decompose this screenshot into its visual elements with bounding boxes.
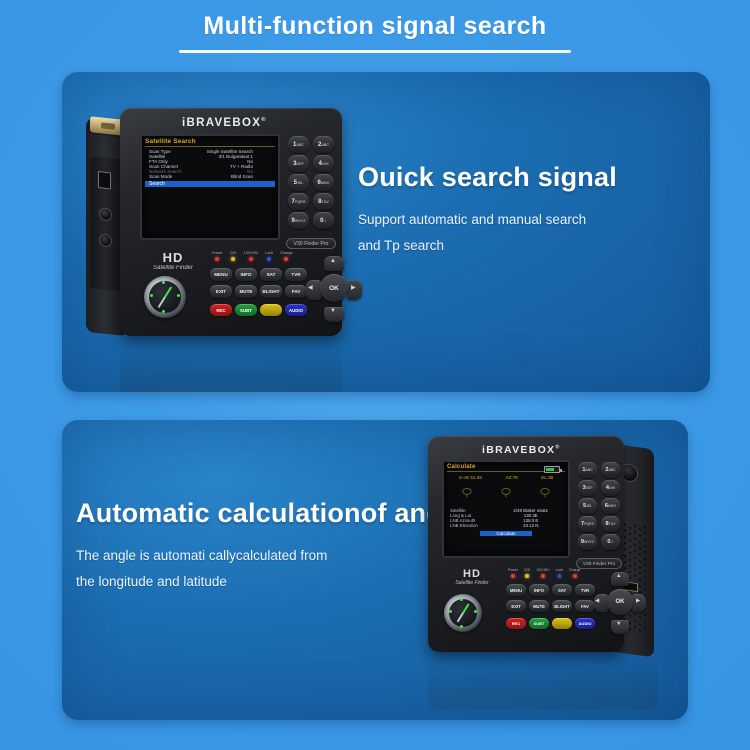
brand-trademark: ® bbox=[261, 117, 267, 123]
f-connector[interactable] bbox=[90, 116, 124, 136]
key-menu[interactable]: MENU bbox=[210, 268, 232, 281]
device-angled-view: iBRAVEBOX® Calculate S->E 51.35AZ:78EL:3… bbox=[410, 428, 688, 678]
key-mute[interactable]: MUTE bbox=[529, 600, 549, 612]
key-8[interactable]: 8TUV bbox=[313, 193, 334, 210]
key-blight[interactable]: BLIGHT bbox=[552, 600, 572, 612]
key-5[interactable]: 5JKL bbox=[578, 498, 597, 514]
hd-label: HD Satellite Finder bbox=[444, 568, 500, 586]
title-underline bbox=[179, 50, 571, 53]
key-9[interactable]: 9WXYZ bbox=[288, 212, 309, 229]
lcd-calc-body: SatelliteLong & LatLNB AzimuthLNB Elevat… bbox=[447, 508, 565, 528]
hd-text: HD bbox=[444, 568, 500, 580]
key-6[interactable]: 6MNO bbox=[313, 174, 334, 191]
panel-1-sub-line-2: and Tp search bbox=[358, 233, 617, 259]
dpad-navigation[interactable]: OK ▲ ▼ ◀ ▶ bbox=[306, 256, 362, 322]
key-1[interactable]: 1ABC bbox=[578, 462, 597, 478]
key-sat[interactable]: SAT bbox=[552, 584, 572, 596]
satellite-finder-text: Satellite Finder bbox=[444, 580, 500, 586]
panel-2-sub-line-2: the longitude and latitude bbox=[76, 569, 466, 595]
lcd-calc-labels: SatelliteLong & LatLNB AzimuthLNB Elevat… bbox=[447, 508, 497, 528]
lcd-dish-icons bbox=[447, 486, 565, 498]
brand-logo: iBRAVEBOX® bbox=[482, 444, 561, 456]
feature-panel-search: iBRAVEBOX® Satellite Search Scan TypeSin… bbox=[62, 72, 710, 392]
key-6[interactable]: 6MNO bbox=[601, 498, 620, 514]
lcd-menu-rows: Scan TypeSingle Satellite SearchSatellit… bbox=[145, 149, 275, 179]
led-indicator-row: Power22K13V/18VLockCharge bbox=[212, 251, 293, 261]
led-dot bbox=[511, 574, 515, 578]
led-label: 22K bbox=[524, 568, 530, 572]
key-9[interactable]: 9WXYZ bbox=[578, 534, 597, 550]
device-body: iBRAVEBOX® Calculate S->E 51.35AZ:78EL:3… bbox=[428, 436, 624, 652]
key-7[interactable]: 7PQRS bbox=[578, 516, 597, 532]
color-key-row[interactable]: RECSUBTAUDIO bbox=[210, 304, 308, 316]
device-front-view: iBRAVEBOX® Satellite Search Scan TypeSin… bbox=[86, 94, 346, 354]
page-header: Multi-function signal search bbox=[0, 12, 750, 53]
lcd-calc-values: 2/49 Blaker sSat1130.3E138.0 E23.12 N bbox=[497, 508, 565, 528]
satellite-dish-icon bbox=[461, 486, 473, 498]
led-label: 13V/18V bbox=[536, 568, 549, 572]
led-label: Lock bbox=[556, 568, 563, 572]
led-dot bbox=[558, 574, 562, 578]
led-dot bbox=[249, 257, 253, 261]
panel-1-title: Ouick search signal bbox=[358, 162, 617, 193]
color-key-subt[interactable]: SUBT bbox=[235, 304, 257, 316]
color-key-subt[interactable]: SUBT bbox=[529, 618, 549, 629]
lcd-row-value: Blind Scan bbox=[231, 174, 275, 179]
lcd-column-headers: S->E 51.35AZ:78EL:38 bbox=[447, 475, 565, 480]
led-22k: 22K bbox=[230, 251, 237, 261]
key-menu[interactable]: MENU bbox=[506, 584, 526, 596]
led-indicator-row: Power22K13V/18VLockCharge bbox=[508, 568, 580, 578]
brand-logo: iBRAVEBOX® bbox=[182, 117, 267, 129]
function-key-grid[interactable]: MENUINFOSATTVREXITMUTEBLIGHTFAV bbox=[506, 584, 596, 614]
satellite-finder-text: Satellite Finder bbox=[142, 265, 204, 271]
led-power: Power bbox=[508, 568, 518, 578]
color-key-row[interactable]: RECSUBTAUDIO bbox=[506, 618, 596, 629]
key-5[interactable]: 5JKL bbox=[288, 174, 309, 191]
led-label: Power bbox=[508, 568, 518, 572]
color-key-audio[interactable]: AUDIO bbox=[575, 618, 595, 629]
color-key-audio[interactable]: AUDIO bbox=[285, 304, 307, 316]
lcd-screen-search: Satellite Search Scan TypeSingle Satelli… bbox=[140, 134, 280, 240]
led-label: Lock bbox=[265, 251, 273, 255]
model-badge: V30 Finder Pro bbox=[576, 558, 622, 569]
device-body: iBRAVEBOX® Satellite Search Scan TypeSin… bbox=[120, 108, 342, 336]
compass bbox=[444, 594, 482, 632]
panel-1-sub-line-1: Support automatic and manual search bbox=[358, 207, 617, 233]
dpad-down-icon: ▼ bbox=[616, 621, 621, 627]
led-dot bbox=[573, 574, 577, 578]
numeric-keypad[interactable]: 1ABC2ABC3DEF4GHI5JKL6MNO7PQRS8TUV9WXYZ0-… bbox=[288, 136, 334, 232]
color-key-yellow[interactable] bbox=[260, 304, 282, 316]
model-badge: V30 Finder Pro bbox=[286, 238, 336, 249]
key-1[interactable]: 1ABC bbox=[288, 136, 309, 153]
panel-2-subtext: The angle is automati callycalculated fr… bbox=[76, 543, 466, 596]
led-dot bbox=[215, 257, 219, 261]
key-tvr[interactable]: TVR bbox=[575, 584, 595, 596]
lcd-column-header: EL:38 bbox=[541, 475, 553, 480]
key-4[interactable]: 4GHI bbox=[313, 155, 334, 172]
led-dot bbox=[231, 257, 235, 261]
panel-2-text-block: Automatic calculationof angle The angle … bbox=[76, 498, 466, 596]
page-background: Multi-function signal search iBRAVEBOX® bbox=[0, 0, 750, 750]
led-lock: Lock bbox=[265, 251, 273, 261]
hd-label: HD Satellite Finder bbox=[142, 250, 204, 271]
key-mute[interactable]: MUTE bbox=[235, 285, 257, 298]
key-blight[interactable]: BLIGHT bbox=[260, 285, 282, 298]
key-8[interactable]: 8TUV bbox=[601, 516, 620, 532]
lcd-column-header: S->E 51.35 bbox=[459, 475, 482, 480]
key-4[interactable]: 4GHI bbox=[601, 480, 620, 496]
panel-1-text-block: Ouick search signal Support automatic an… bbox=[358, 162, 617, 260]
lcd-row-label: Scan Mode bbox=[145, 174, 172, 179]
ok-button[interactable]: OK bbox=[320, 274, 348, 302]
key-exit[interactable]: EXIT bbox=[210, 285, 232, 298]
key-exit[interactable]: EXIT bbox=[506, 600, 526, 612]
key-info[interactable]: INFO bbox=[235, 268, 257, 281]
key-info[interactable]: INFO bbox=[529, 584, 549, 596]
panel-2-title: Automatic calculationof angle bbox=[76, 498, 466, 529]
vent-dots bbox=[91, 158, 121, 289]
numeric-keypad[interactable]: 1ABC2ABC3DEF4GHI5JKL6MNO7PQRS8TUV9WXYZ0-… bbox=[578, 462, 620, 554]
lcd-menu-row[interactable]: Scan ModeBlind Scan bbox=[145, 174, 275, 179]
ok-button[interactable]: OK bbox=[607, 589, 633, 615]
led-charge: Charge bbox=[569, 568, 580, 578]
key-0[interactable]: 0-/. bbox=[313, 212, 334, 229]
key-fav[interactable]: FAV bbox=[285, 285, 307, 298]
lcd-title-text: Calculate bbox=[447, 464, 475, 470]
dpad-right-icon: ▶ bbox=[351, 284, 356, 291]
page-title: Multi-function signal search bbox=[0, 12, 750, 41]
lcd-column-header: AZ:78 bbox=[505, 475, 517, 480]
led-label: Power bbox=[212, 251, 223, 255]
key-2[interactable]: 2ABC bbox=[313, 136, 334, 153]
led-label: Charge bbox=[569, 568, 580, 572]
panel-2-sub-line-1: The angle is automati callycalculated fr… bbox=[76, 543, 466, 569]
led-dot bbox=[541, 574, 545, 578]
feature-panel-calculate: Automatic calculationof angle The angle … bbox=[62, 420, 688, 720]
lcd-screen-calculate: Calculate S->E 51.35AZ:78EL:38 bbox=[442, 460, 570, 558]
dpad-left-icon: ◀ bbox=[595, 598, 599, 604]
key-3[interactable]: 3DEF bbox=[578, 480, 597, 496]
led-label: Charge bbox=[280, 251, 292, 255]
device-reflection bbox=[120, 338, 342, 392]
key-3[interactable]: 3DEF bbox=[288, 155, 309, 172]
brand-text: iBRAVEBOX bbox=[182, 117, 261, 129]
device-reflection bbox=[428, 654, 658, 710]
lcd-title: Calculate bbox=[447, 464, 565, 472]
color-key-rec[interactable]: REC bbox=[210, 304, 232, 316]
led-dot bbox=[267, 257, 271, 261]
dpad-up-icon: ▲ bbox=[330, 258, 336, 264]
key-2[interactable]: 2ABC bbox=[601, 462, 620, 478]
key-fav[interactable]: FAV bbox=[575, 600, 595, 612]
brand-text: iBRAVEBOX bbox=[482, 444, 555, 456]
color-key-rec[interactable]: REC bbox=[506, 618, 526, 629]
lcd-calc-value: 23.12 N bbox=[497, 523, 565, 528]
key-7[interactable]: 7PQRS bbox=[288, 193, 309, 210]
led-dot bbox=[525, 574, 529, 578]
dpad-right-icon: ▶ bbox=[636, 598, 640, 604]
battery-icon bbox=[544, 466, 560, 473]
led-22k: 22K bbox=[524, 568, 530, 578]
led-label: 13V/18V bbox=[244, 251, 259, 255]
key-tvr[interactable]: TVR bbox=[285, 268, 307, 281]
hd-text: HD bbox=[142, 250, 204, 265]
led-label: 22K bbox=[230, 251, 237, 255]
led-dot bbox=[284, 257, 288, 261]
lcd-title: Satellite Search bbox=[145, 138, 275, 147]
dpad-left-icon: ◀ bbox=[308, 284, 313, 291]
satellite-dish-icon bbox=[539, 486, 551, 498]
led-charge: Charge bbox=[280, 251, 292, 261]
led-13v-18v: 13V/18V bbox=[244, 251, 259, 261]
dpad-up-icon: ▲ bbox=[616, 573, 621, 579]
satellite-dish-icon bbox=[500, 486, 512, 498]
lcd-selected-row[interactable]: Search bbox=[145, 181, 275, 187]
led-13v-18v: 13V/18V bbox=[536, 568, 549, 578]
color-key-yellow[interactable] bbox=[552, 618, 572, 629]
compass bbox=[144, 276, 186, 318]
brand-trademark: ® bbox=[555, 445, 560, 451]
function-key-grid[interactable]: MENUINFOSATTVREXITMUTEBLIGHTFAV bbox=[210, 268, 308, 300]
dpad-down-icon: ▼ bbox=[330, 308, 336, 314]
panel-1-subtext: Support automatic and manual search and … bbox=[358, 207, 617, 260]
lcd-selected-row[interactable]: Calculate bbox=[480, 531, 532, 536]
key-0[interactable]: 0-/. bbox=[601, 534, 620, 550]
dpad-navigation[interactable]: OK ▲ ▼ ◀ ▶ bbox=[594, 572, 646, 634]
led-lock: Lock bbox=[556, 568, 563, 578]
key-sat[interactable]: SAT bbox=[260, 268, 282, 281]
led-power: Power bbox=[212, 251, 223, 261]
lcd-calc-label: LNB Elevation bbox=[447, 523, 497, 528]
